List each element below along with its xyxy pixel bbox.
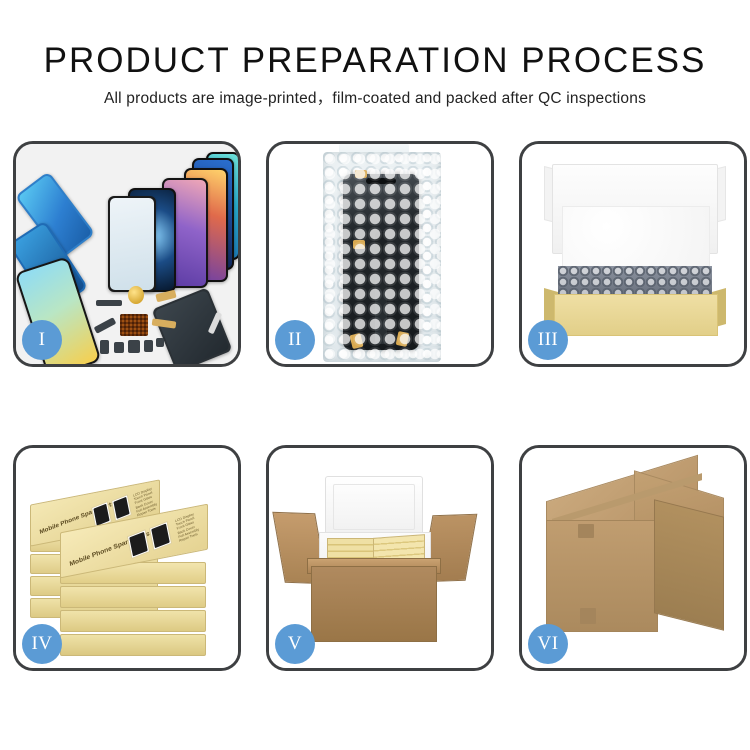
foam-sheet xyxy=(562,206,710,274)
tape-piece-top xyxy=(355,170,367,178)
part-strip xyxy=(96,300,122,306)
page-subtitle: All products are image-printed，film-coat… xyxy=(0,80,750,108)
part-bracket xyxy=(94,317,117,334)
part-connector xyxy=(100,340,109,354)
carton-front-face xyxy=(546,520,658,632)
tape-piece-mid xyxy=(353,240,365,249)
product-preparation-infographic: PRODUCT PREPARATION PROCESS All products… xyxy=(0,0,750,750)
box-thumb xyxy=(149,521,172,551)
header: PRODUCT PREPARATION PROCESS All products… xyxy=(0,0,750,108)
box-thumb xyxy=(127,529,150,559)
part-ic-array xyxy=(120,314,148,336)
page-title: PRODUCT PREPARATION PROCESS xyxy=(0,0,750,80)
phone-front-glass xyxy=(108,196,156,292)
part-gold-coil xyxy=(128,286,144,304)
screen-notch xyxy=(366,178,396,184)
carton-seal-bottom xyxy=(580,608,596,624)
process-step-1[interactable]: I xyxy=(13,141,241,367)
process-step-grid: I II xyxy=(0,141,750,686)
step-badge: VI xyxy=(528,624,568,664)
foam-box-lid xyxy=(325,476,423,538)
part-camera xyxy=(144,340,153,352)
step-badge: V xyxy=(275,624,315,664)
wrapped-screen xyxy=(343,174,419,350)
step-badge: I xyxy=(22,320,62,360)
box-layer xyxy=(60,610,206,632)
box-front-kraft xyxy=(554,294,718,336)
box-thumb xyxy=(111,494,132,521)
carton-body xyxy=(311,566,437,642)
part-speaker xyxy=(128,340,140,353)
process-step-3[interactable]: III xyxy=(519,141,747,367)
carton-seal-top xyxy=(578,524,594,538)
step-badge: III xyxy=(528,320,568,360)
process-step-6[interactable]: VI xyxy=(519,445,747,671)
part-button xyxy=(114,342,124,353)
process-step-4[interactable]: Mobile Phone Spare Parts LCD DisplayTouc… xyxy=(13,445,241,671)
box-layer xyxy=(60,634,206,656)
process-step-5[interactable]: V xyxy=(266,445,494,671)
process-step-2[interactable]: II xyxy=(266,141,494,367)
carton-side-face xyxy=(654,499,724,630)
part-screw-plate xyxy=(156,338,164,347)
step-badge: IV xyxy=(22,624,62,664)
box-layer xyxy=(60,586,206,608)
box-feature-list: LCD DisplayTouch PanelFront GlassBack Co… xyxy=(175,511,200,543)
step-badge: II xyxy=(275,320,315,360)
screen-flex-cable xyxy=(375,232,387,344)
